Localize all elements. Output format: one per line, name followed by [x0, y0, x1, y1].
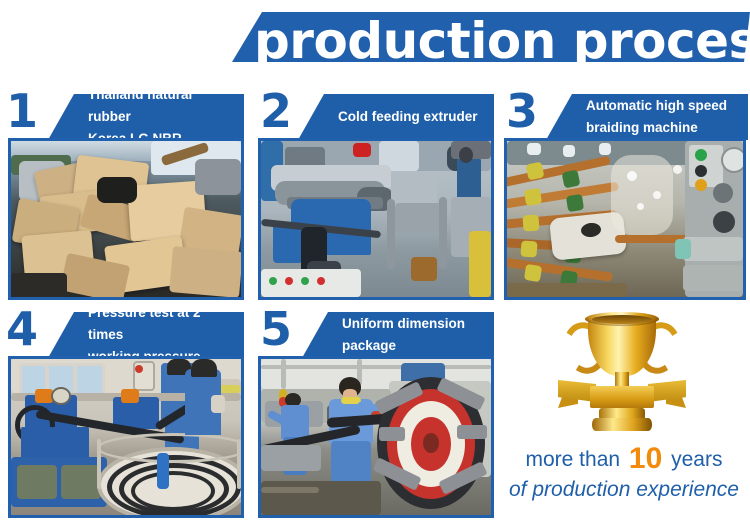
experience-subtitle: of production experience: [500, 478, 748, 502]
experience-badge: more than 10 years of production experie…: [500, 306, 748, 522]
caption-line: Cold feeding extruder: [338, 106, 488, 128]
production-process-infographic: production process 1 Thailand natural ru…: [0, 0, 750, 525]
years-number: 10: [626, 442, 665, 475]
caption-line: package: [342, 335, 488, 357]
step-number-2: 2: [260, 88, 292, 134]
step-number-1: 1: [6, 88, 38, 134]
step-number-5: 5: [260, 306, 292, 352]
trophy-icon: [552, 308, 692, 436]
experience-years-line: more than 10 years: [500, 442, 748, 476]
step-panel-2: 2 Cold feeding extruder: [258, 92, 494, 304]
trophy-ribbon: [558, 378, 686, 412]
step-photo-1[interactable]: [8, 138, 244, 300]
step-number-3: 3: [506, 88, 538, 134]
step-caption-3: Automatic high speed braiding machine: [546, 94, 748, 140]
step-caption-1: Thailand natural rubber Korea LG NBR: [48, 94, 244, 140]
step-panel-4: 4 Pressure test at 2 times working press…: [4, 310, 244, 522]
step-caption-5: Uniform dimension package: [302, 312, 494, 358]
step-photo-2[interactable]: [258, 138, 494, 300]
step-photo-5[interactable]: [258, 356, 494, 518]
trophy-base: [592, 418, 652, 431]
step-photo-4[interactable]: [8, 356, 244, 518]
caption-line: Pressure test at 2 times: [88, 312, 238, 346]
more-than-label: more than: [526, 448, 621, 471]
step-panel-3: 3 Automatic high speed braiding machine: [504, 92, 748, 304]
header-banner: production process: [232, 12, 750, 62]
caption-line: Automatic high speed: [586, 95, 742, 117]
step-photo-3[interactable]: [504, 138, 746, 300]
caption-line: Uniform dimension: [342, 313, 488, 335]
step-panel-1: 1 Thailand natural rubber Korea LG NBR: [4, 92, 244, 304]
page-title: production process: [254, 10, 750, 80]
step-caption-2: Cold feeding extruder: [298, 94, 494, 140]
step-caption-4: Pressure test at 2 times working pressur…: [48, 312, 244, 358]
years-label: years: [671, 448, 722, 471]
step-panel-5: 5 Uniform dimension package: [258, 310, 494, 522]
caption-line: Thailand natural rubber: [88, 94, 238, 128]
step-number-4: 4: [6, 306, 38, 352]
trophy-inner: [592, 315, 652, 324]
caption-line: braiding machine: [586, 117, 742, 139]
